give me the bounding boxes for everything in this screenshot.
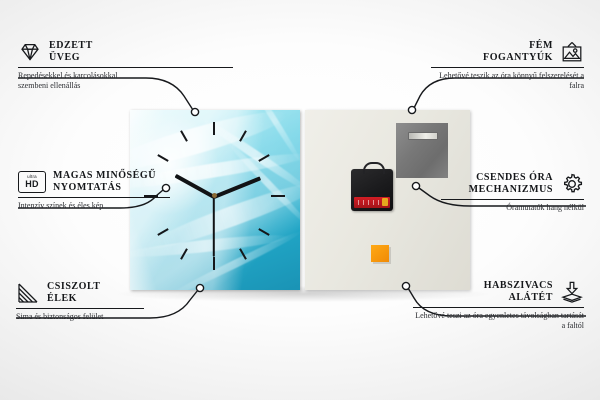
feature-title-line1: CSENDES ÓRA <box>369 172 553 184</box>
foam-pad-arrow-icon <box>560 280 584 304</box>
feature-title-line2: NYOMTATÁS <box>53 182 156 194</box>
ultra-hd-icon-main-text: HD <box>25 180 39 189</box>
feature-silent-mechanism[interactable]: CSENDES ÓRA MECHANIZMUS Óramutatók hang … <box>369 172 584 213</box>
beveled-edge-icon <box>16 281 40 305</box>
feature-high-quality-print[interactable]: ultra HD MAGAS MINŐSÉGŰ NYOMTATÁS Intenz… <box>18 170 233 211</box>
feature-description: Lehetővé teszik az óra könnyű felszerelé… <box>431 71 584 91</box>
diamond-icon <box>18 40 42 64</box>
feature-title-line1: MAGAS MINŐSÉGŰ <box>53 170 156 182</box>
feature-polished-edges[interactable]: CSISZOLT ÉLEK Sima és biztonságos felüle… <box>16 281 231 322</box>
feature-description: Lehetővé teszi az óra egyenletes távolsá… <box>413 311 584 331</box>
feature-title-line1: FÉM <box>369 40 553 52</box>
infographic-canvas: EDZETT ÜVEG Repedésekkel és karcolásokka… <box>0 0 600 400</box>
divider <box>413 307 584 308</box>
feature-metal-handles[interactable]: FÉM FOGANTYÚK Lehetővé teszik az óra kön… <box>369 40 584 91</box>
feature-title-line1: CSISZOLT <box>47 281 101 293</box>
feature-description: Sima és biztonságos felület <box>16 312 231 322</box>
ultra-hd-icon: ultra HD <box>18 171 46 193</box>
feature-title-line2: ALÁTÉT <box>369 292 553 304</box>
hanger-slot <box>408 132 438 140</box>
metal-hanger <box>396 123 448 178</box>
feature-title-line2: ÜVEG <box>49 52 93 64</box>
gear-icon <box>560 172 584 196</box>
feature-title-line2: FOGANTYÚK <box>369 52 553 64</box>
clock-tick <box>213 122 215 135</box>
feature-title-line2: MECHANIZMUS <box>369 184 553 196</box>
feature-title-line1: HABSZIVACS <box>369 280 553 292</box>
feature-description: Óramutatók hang nélkül <box>441 203 584 213</box>
feature-description: Intenzív színek és éles kép <box>18 201 233 211</box>
divider <box>18 197 170 198</box>
divider <box>18 67 233 68</box>
clock-tick <box>271 195 285 197</box>
feature-description: Repedésekkel és karcolásokkal szembeni e… <box>18 71 146 91</box>
feature-title-line1: EDZETT <box>49 40 93 52</box>
divider <box>16 308 144 309</box>
feature-foam-pad[interactable]: HABSZIVACS ALÁTÉT Lehetővé teszi az óra … <box>369 280 584 331</box>
feature-title-line2: ÉLEK <box>47 293 101 305</box>
picture-frame-hanger-icon <box>560 40 584 64</box>
clock-tick <box>213 257 215 270</box>
divider <box>441 199 584 200</box>
divider <box>431 67 584 68</box>
feature-tempered-glass[interactable]: EDZETT ÜVEG Repedésekkel és karcolásokka… <box>18 40 233 91</box>
foam-pad <box>371 245 389 262</box>
